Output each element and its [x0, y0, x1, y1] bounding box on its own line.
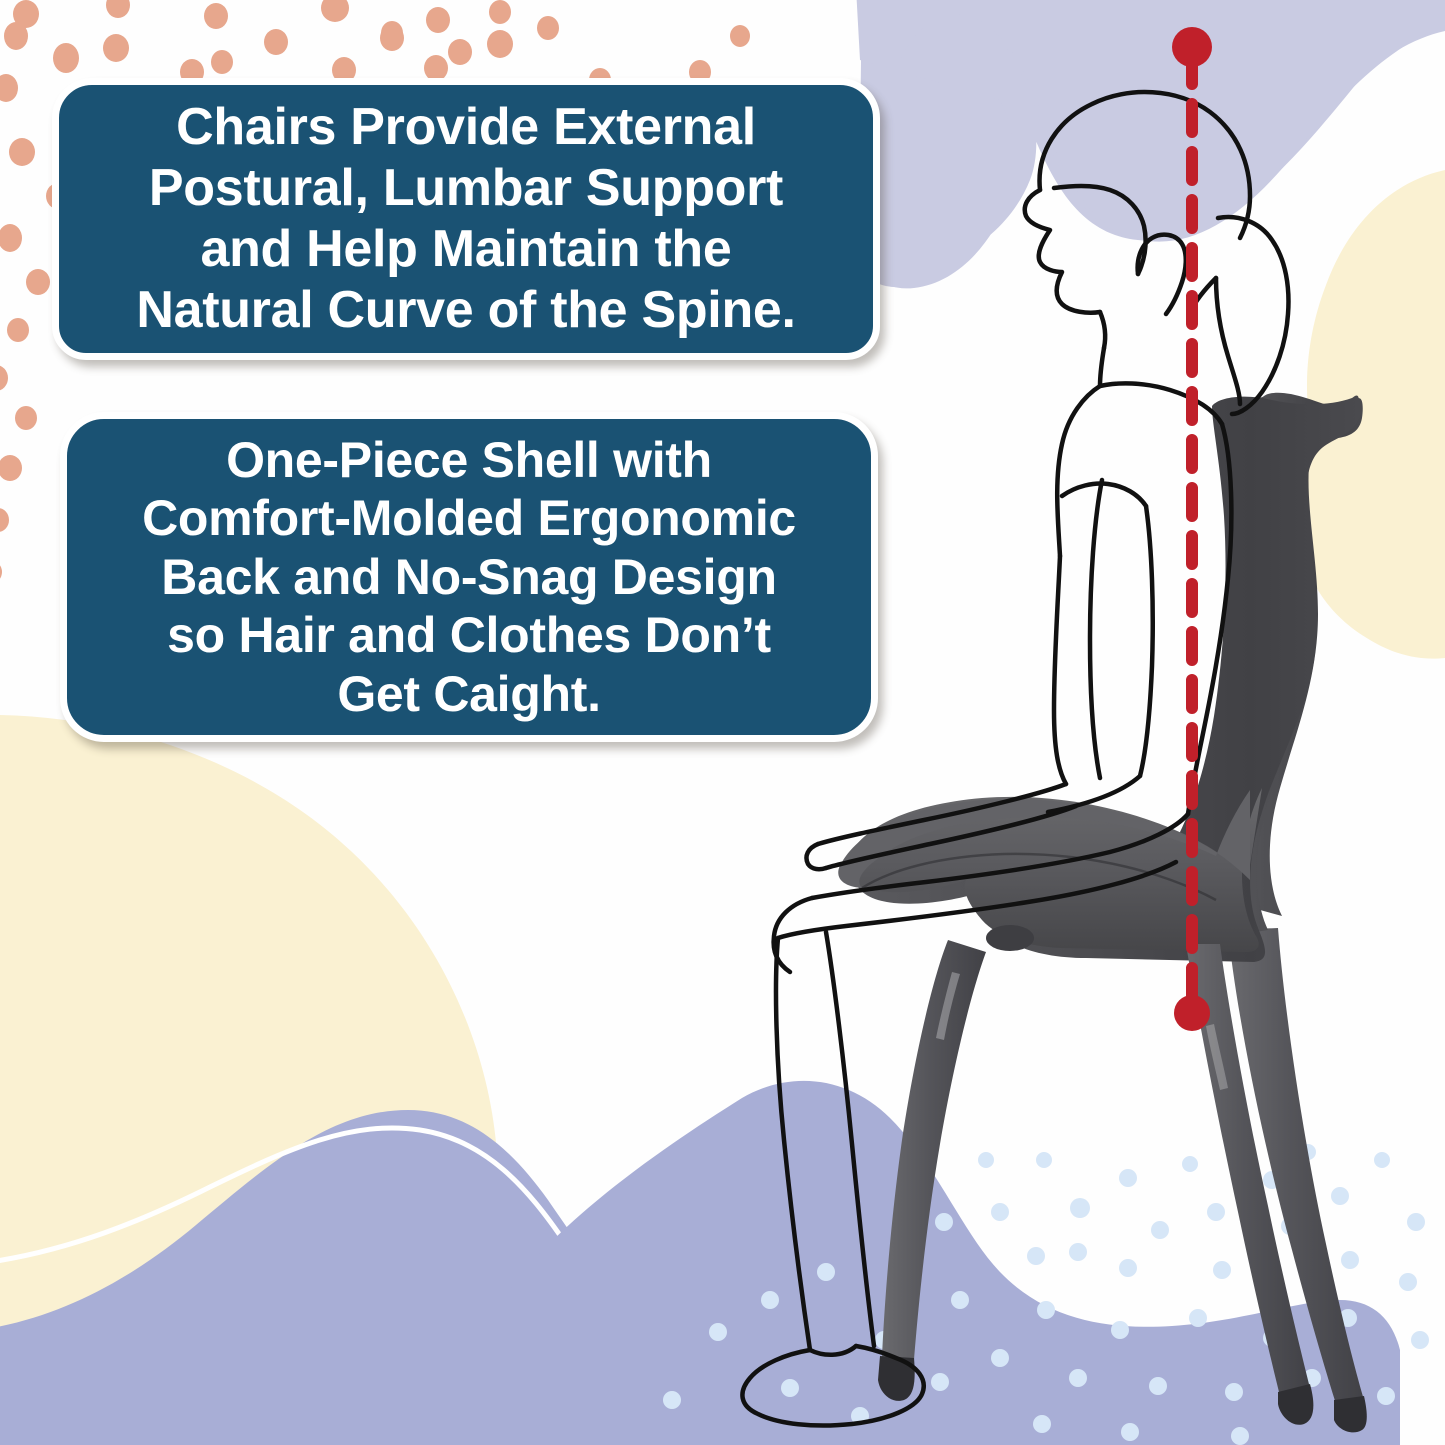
callout-2-text: One-Piece Shell with Comfort-Molded Ergo…	[142, 431, 796, 724]
callout-postural-support: Chairs Provide External Postural, Lumbar…	[52, 78, 880, 360]
callout-one-piece-shell: One-Piece Shell with Comfort-Molded Ergo…	[60, 412, 878, 742]
plumb-top-marker-icon	[1172, 27, 1212, 67]
callout-1-text: Chairs Provide External Postural, Lumbar…	[136, 97, 795, 340]
infographic-canvas: Chairs Provide External Postural, Lumbar…	[0, 0, 1445, 1445]
plumb-bottom-marker-icon	[1174, 995, 1210, 1031]
